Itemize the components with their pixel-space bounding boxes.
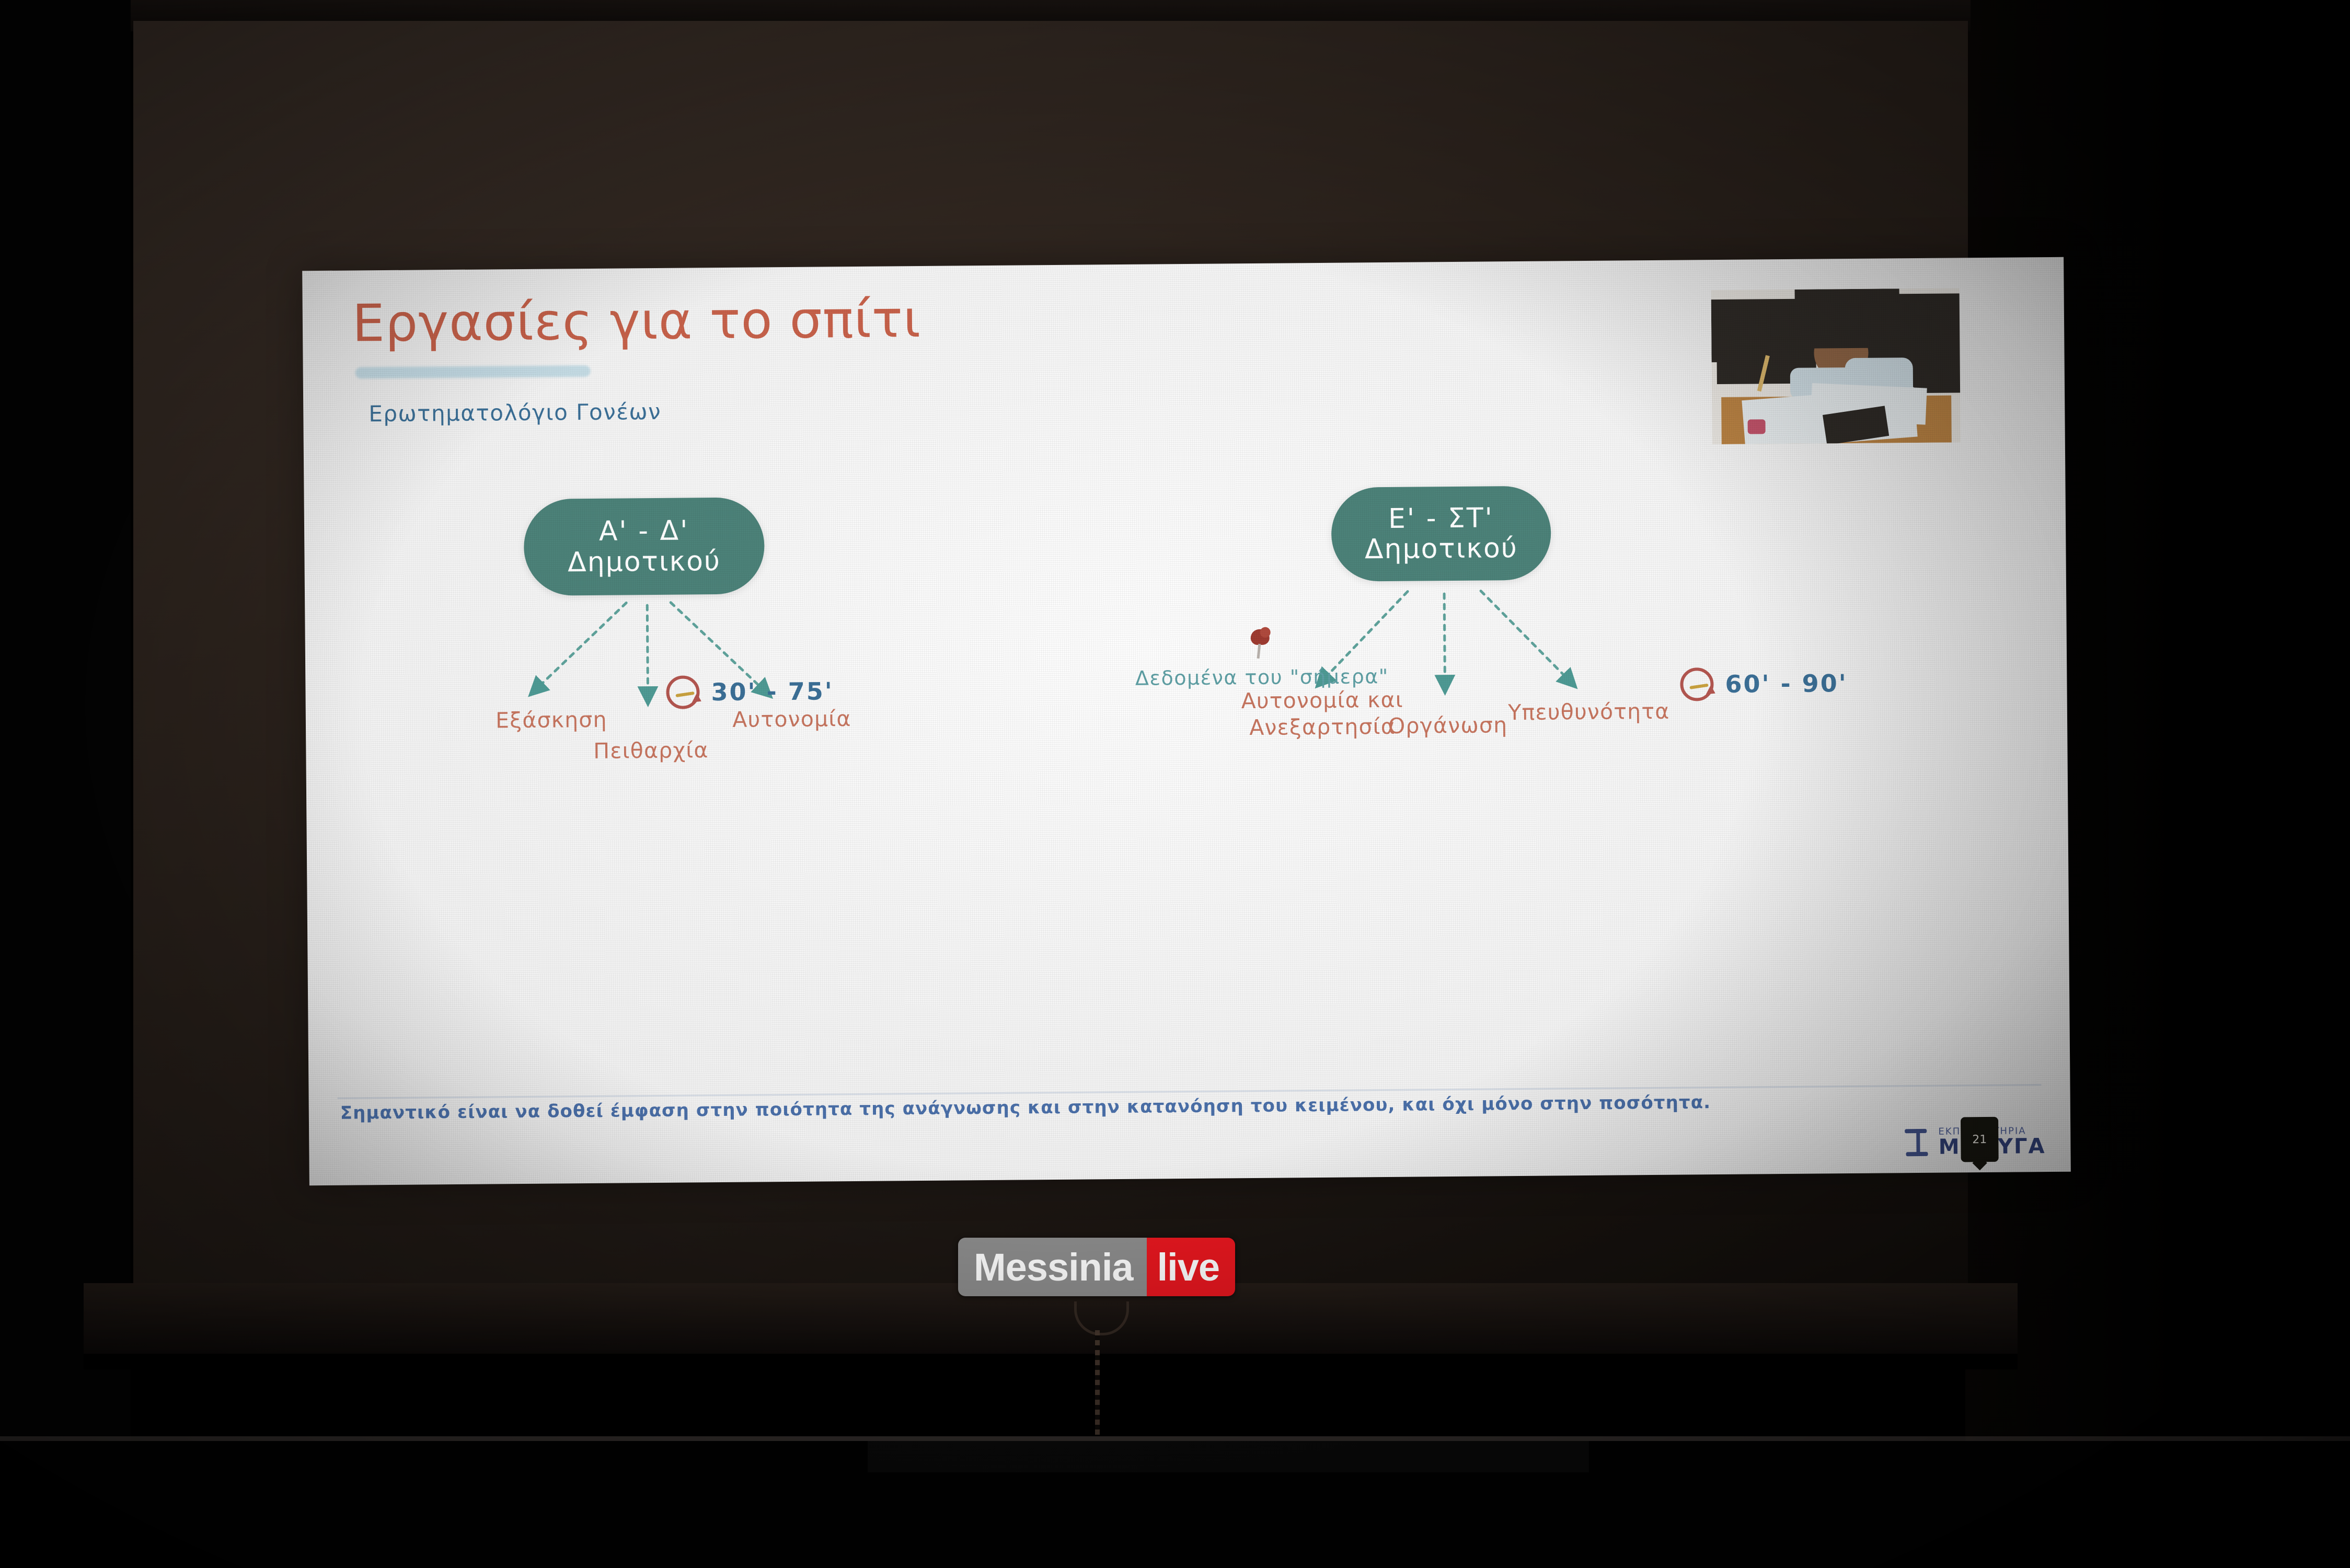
- homework-photo: [1711, 288, 1961, 444]
- arrow-right-3: [1481, 590, 1570, 682]
- node-line-2: Δημοτικού: [1365, 533, 1518, 565]
- slide-title: Εργασίες για το σπίτι: [352, 290, 921, 354]
- leaf-left-2: Πειθαρχία: [567, 737, 734, 765]
- leaf-left-3: Αυτονομία: [706, 706, 878, 734]
- watermark-brand: Messinia: [958, 1238, 1147, 1296]
- center-caption: Δεδομένα του "σήμερα": [1063, 664, 1460, 690]
- node-line-1: Ε' - ΣΤ': [1388, 503, 1494, 534]
- roller-shadow: [84, 1354, 2018, 1369]
- slide-number-badge: 21: [1961, 1117, 1999, 1162]
- clock-icon: [1680, 667, 1714, 701]
- pushpin-icon: [1249, 629, 1272, 661]
- duration-right-label: 60' - 90': [1725, 669, 1848, 698]
- slide-subtitle: Ερωτηματολόγιο Γονέων: [368, 399, 661, 426]
- duration-left-label: 30' - 75': [711, 677, 834, 706]
- duration-right: 60' - 90': [1680, 666, 1848, 701]
- watermark-brand-text: Messinia: [974, 1245, 1133, 1289]
- node-line-1: Α' - Δ': [599, 516, 689, 547]
- desk-front-panel: [868, 1441, 1589, 1472]
- desk-edge-highlight: [0, 1436, 2350, 1441]
- dark-room-background: Εργασίες για το σπίτι Ερωτηματολόγιο Γον…: [0, 0, 2350, 1568]
- watermark-live: live: [1147, 1238, 1235, 1296]
- node-line-2: Δημοτικού: [568, 546, 721, 578]
- leaf-right-3: Υπευθυνότητα: [1484, 698, 1694, 726]
- title-underline-brush: [355, 365, 591, 379]
- leaf-left-1: Εξάσκηση: [468, 706, 635, 734]
- clock-icon: [666, 675, 700, 709]
- duration-left: 30' - 75': [666, 674, 834, 709]
- node-grades-a-d[interactable]: Α' - Δ' Δημοτικού: [524, 497, 765, 596]
- watermark-live-text: live: [1157, 1245, 1219, 1289]
- slide-number: 21: [1972, 1133, 1987, 1146]
- presentation-slide: Εργασίες για το σπίτι Ερωτηματολόγιο Γον…: [302, 257, 2071, 1185]
- pull-chain[interactable]: [1095, 1330, 1100, 1435]
- arrow-left-1: [535, 603, 627, 689]
- logo-mark-icon: [1903, 1127, 1931, 1158]
- arrow-left-2: [647, 605, 648, 697]
- messinia-live-watermark: Messinia live: [958, 1238, 1235, 1296]
- projection-screen: Εργασίες για το σπίτι Ερωτηματολόγιο Γον…: [133, 21, 1968, 1291]
- node-grades-e-st[interactable]: Ε' - ΣΤ' Δημοτικού: [1331, 486, 1551, 582]
